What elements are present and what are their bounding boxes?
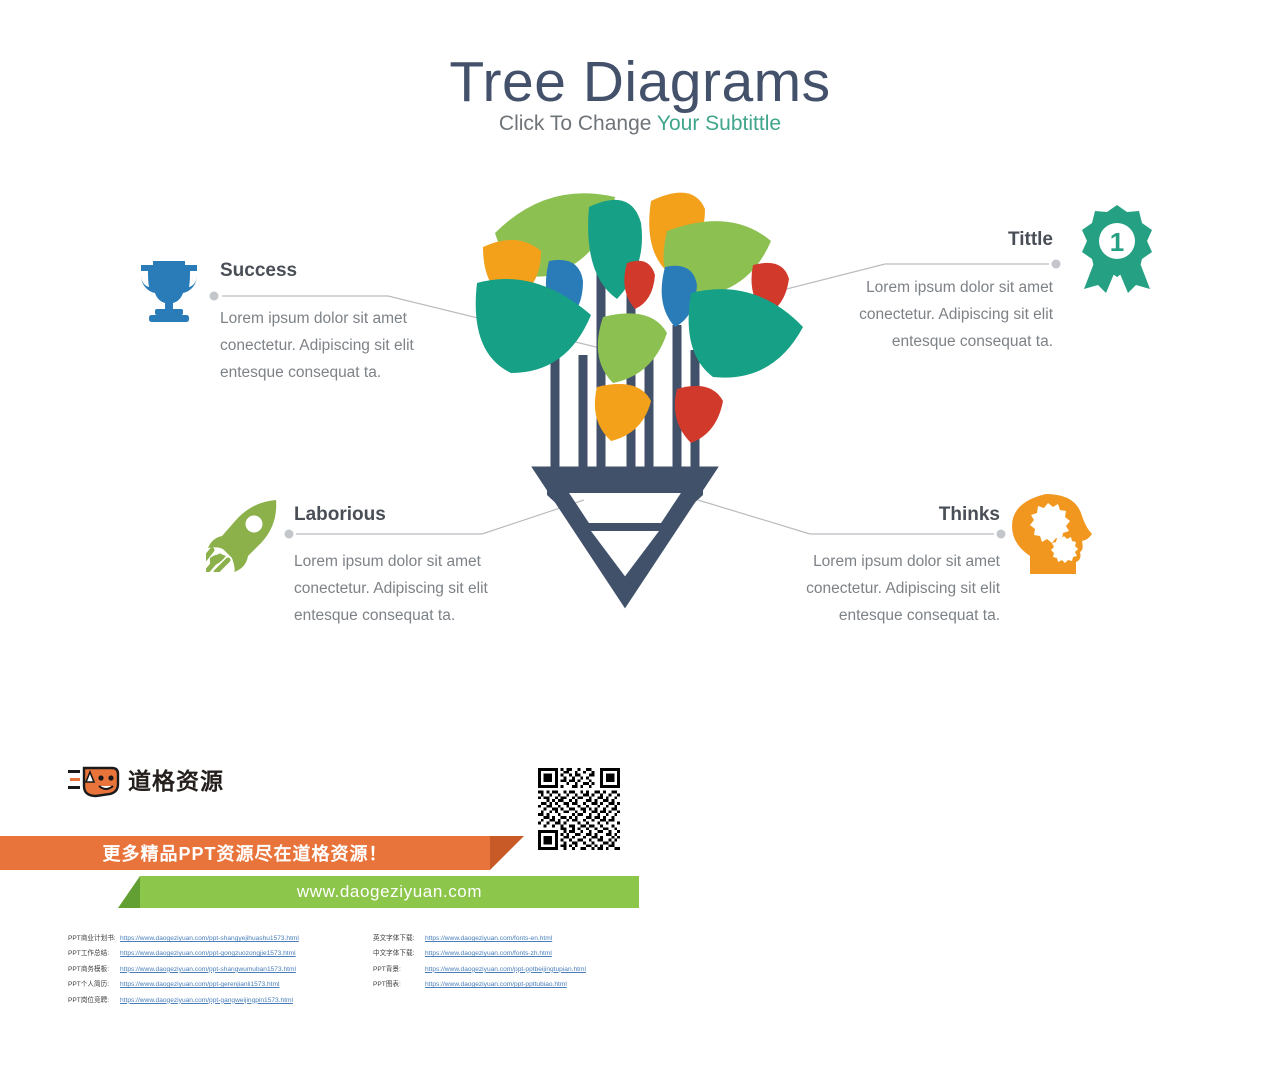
slide-canvas: Tree Diagrams Click To Change Your Subti… — [0, 0, 1280, 1080]
brand-logo-group: 道格资源 — [68, 762, 224, 800]
callout-heading-thinks: Thinks — [793, 503, 1000, 527]
callout-heading-success: Success — [220, 259, 425, 283]
resource-links-left-column: PPT商业计划书:https://www.daogeziyuan.com/ppt… — [68, 934, 358, 1011]
resource-link-label: 中文字体下载: — [373, 949, 425, 959]
resource-link-url[interactable]: https://www.daogeziyuan.com/ppt-gerenjia… — [120, 980, 279, 990]
callout-heading-tittle: Tittle — [848, 228, 1053, 252]
resource-link-url[interactable]: https://www.daogeziyuan.com/ppt-gangweij… — [120, 996, 293, 1006]
resource-link-row: 中文字体下载:https://www.daogeziyuan.com/fonts… — [373, 949, 673, 959]
callout-heading-laborious: Laborious — [294, 503, 499, 527]
resource-link-label: PPT商务模板: — [68, 965, 120, 975]
promo-banner-green-text: www.daogeziyuan.com — [140, 876, 639, 908]
medal-ribbon-icon: 1 — [1080, 205, 1154, 293]
promo-banner-orange: 更多精品PPT资源尽在道格资源！ — [0, 836, 490, 870]
resource-link-label: PPT背景: — [373, 965, 425, 975]
promo-banner-green: www.daogeziyuan.com — [140, 876, 639, 908]
resource-link-url[interactable]: https://www.daogeziyuan.com/fonts-zh.htm… — [425, 949, 552, 959]
resource-links-right-column: 英文字体下载:https://www.daogeziyuan.com/fonts… — [373, 934, 673, 996]
resource-link-url[interactable]: https://www.daogeziyuan.com/ppt-pptbeiji… — [425, 965, 586, 975]
callout-body-laborious: Lorem ipsum dolor sit amet conectetur. A… — [294, 548, 499, 629]
resource-link-row: PPT背景:https://www.daogeziyuan.com/ppt-pp… — [373, 965, 673, 975]
promo-banner-orange-text: 更多精品PPT资源尽在道格资源！ — [0, 836, 490, 870]
resource-link-row: 英文字体下载:https://www.daogeziyuan.com/fonts… — [373, 934, 673, 944]
resource-link-row: PPT商业计划书:https://www.daogeziyuan.com/ppt… — [68, 934, 358, 944]
resource-link-url[interactable]: https://www.daogeziyuan.com/ppt-gongzuoz… — [120, 949, 296, 959]
tree-pencil-graphic — [455, 175, 825, 615]
rocket-icon — [206, 498, 280, 572]
resource-link-url[interactable]: https://www.daogeziyuan.com/fonts-en.htm… — [425, 934, 552, 944]
callout-body-success: Lorem ipsum dolor sit amet conectetur. A… — [220, 305, 425, 386]
resource-link-url[interactable]: https://www.daogeziyuan.com/ppt-shangyej… — [120, 934, 299, 944]
resource-link-row: PPT工作总结:https://www.daogeziyuan.com/ppt-… — [68, 949, 358, 959]
banner-green-fold — [118, 876, 140, 908]
resource-link-label: PPT图表: — [373, 980, 425, 990]
banner-orange-fold — [490, 836, 524, 870]
callout-tittle[interactable]: Tittle Lorem ipsum dolor sit amet conect… — [848, 228, 1053, 355]
resource-link-label: PPT个人简历: — [68, 980, 120, 990]
callout-body-tittle: Lorem ipsum dolor sit amet conectetur. A… — [848, 274, 1053, 355]
callout-thinks[interactable]: Thinks Lorem ipsum dolor sit amet conect… — [793, 503, 1000, 629]
brand-name: 道格资源 — [128, 768, 224, 794]
tree-leaves — [476, 193, 803, 443]
qr-code — [538, 768, 620, 850]
cat-mascot-logo — [68, 762, 120, 800]
resource-link-label: PPT岗位竞聘: — [68, 996, 120, 1006]
resource-link-label: 英文字体下载: — [373, 934, 425, 944]
resource-link-row: PPT商务模板:https://www.daogeziyuan.com/ppt-… — [68, 965, 358, 975]
resource-link-row: PPT图表:https://www.daogeziyuan.com/ppt-pp… — [373, 980, 673, 990]
resource-link-row: PPT个人简历:https://www.daogeziyuan.com/ppt-… — [68, 980, 358, 990]
resource-link-label: PPT工作总结: — [68, 949, 120, 959]
resource-link-url[interactable]: https://www.daogeziyuan.com/ppt-ppttubia… — [425, 980, 567, 990]
trophy-icon — [133, 253, 205, 325]
resource-link-url[interactable]: https://www.daogeziyuan.com/ppt-shangwum… — [120, 965, 296, 975]
callout-laborious[interactable]: Laborious Lorem ipsum dolor sit amet con… — [294, 503, 499, 629]
callout-success[interactable]: Success Lorem ipsum dolor sit amet conec… — [220, 259, 425, 386]
head-gears-icon — [1010, 494, 1094, 574]
medal-number: 1 — [1110, 227, 1124, 257]
callout-body-thinks: Lorem ipsum dolor sit amet conectetur. A… — [793, 548, 1000, 629]
resource-link-label: PPT商业计划书: — [68, 934, 120, 944]
resource-link-row: PPT岗位竞聘:https://www.daogeziyuan.com/ppt-… — [68, 996, 358, 1006]
